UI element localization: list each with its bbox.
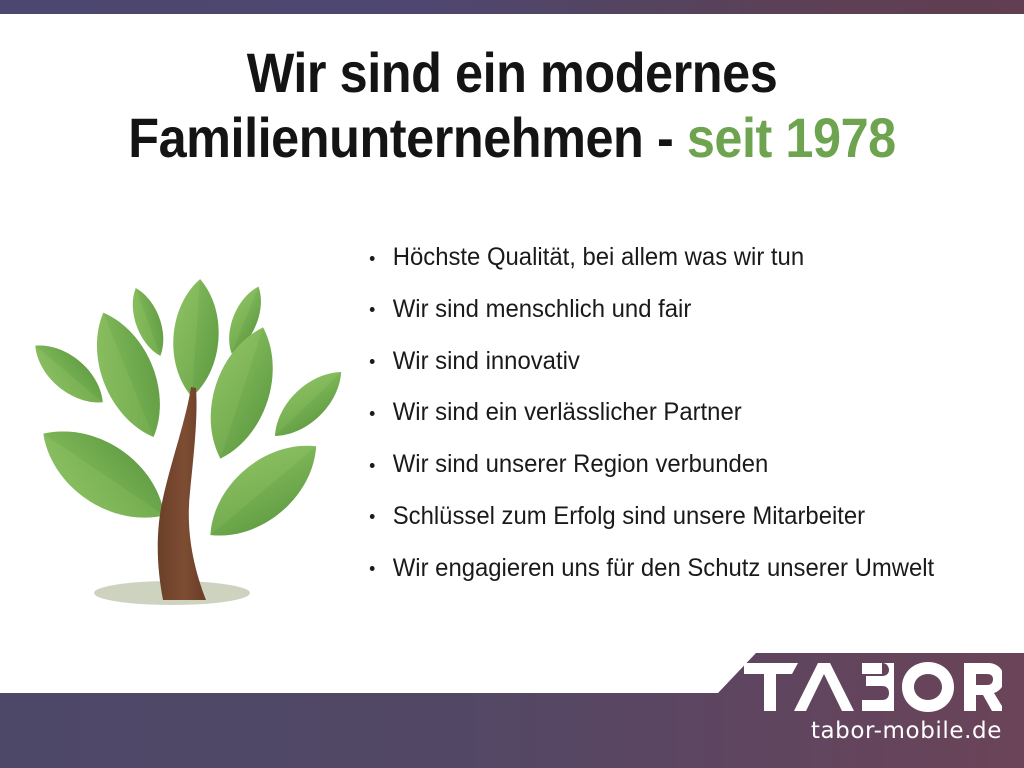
brand-lockup: tabor-mobile.de [732,660,1002,744]
bullet-text: Wir sind innovativ [393,347,580,375]
slide-footer: tabor-mobile.de [0,646,1024,768]
bullet-text: Wir sind unserer Region verbunden [393,450,769,478]
title-line-one: Wir sind ein modernes [51,44,973,101]
bullet-text: Wir engagieren uns für den Schutz unsere… [393,554,934,582]
bullet-item: Wir sind ein verlässlicher Partner [366,397,987,428]
tree-illustration [20,252,350,610]
top-accent-bar [0,0,1024,14]
bullet-dot-icon [370,359,375,364]
tree-icon [20,252,350,610]
leaf-lower-right-large [193,425,334,556]
bullet-text: Schlüssel zum Erfolg sind unsere Mitarbe… [393,502,865,530]
bullet-item: Wir sind menschlich und fair [366,294,987,325]
bullet-text: Höchste Qualität, bei allem was wir tun [393,243,804,271]
leaf-lower-left-large [27,409,182,540]
bullet-dot-icon [370,411,375,416]
bullet-item: Wir engagieren uns für den Schutz unsere… [366,553,987,584]
bullet-item: Wir sind unserer Region verbunden [366,449,987,480]
bullet-item: Höchste Qualität, bei allem was wir tun [366,242,987,273]
bullet-text: Wir sind menschlich und fair [393,295,692,323]
bullet-item: Schlüssel zum Erfolg sind unsere Mitarbe… [366,501,987,532]
leaf-upper-left-large [80,303,177,446]
bullet-item: Wir sind innovativ [366,346,987,377]
tabor-logo [742,660,1002,714]
brand-domain-text: tabor-mobile.de [732,718,1002,744]
bullet-dot-icon [370,307,375,312]
bullet-dot-icon [370,514,375,519]
slide-title: Wir sind ein modernes Familienunternehme… [0,44,1024,166]
bullet-dot-icon [370,566,375,571]
tree-trunk [158,387,206,600]
bullet-dot-icon [370,256,375,261]
value-bullet-list: Höchste Qualität, bei allem was wir tunW… [366,242,1016,604]
leaf-far-right [263,360,350,448]
leaf-top-center [169,278,222,399]
bullet-dot-icon [370,463,375,468]
bullet-text: Wir sind ein verlässlicher Partner [393,398,742,426]
slide-canvas: Wir sind ein modernes Familienunternehme… [0,0,1024,768]
title-accent-year: seit 1978 [687,106,896,169]
title-line-two: Familienunternehmen - seit 1978 [51,109,973,166]
title-line-two-main: Familienunternehmen - [128,106,687,169]
